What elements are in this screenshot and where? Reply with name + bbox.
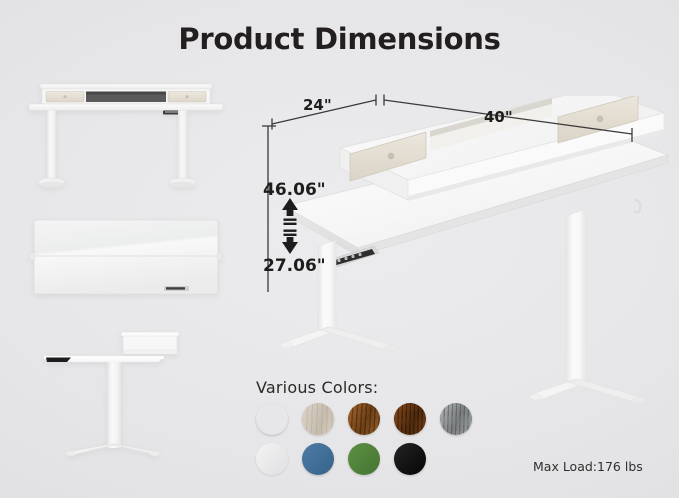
color-swatch-steel-blue[interactable] bbox=[302, 443, 334, 475]
max-height-dimension-label: 46.06" bbox=[263, 180, 326, 200]
height-range-arrows bbox=[282, 198, 298, 254]
color-swatch-row-1 bbox=[256, 403, 472, 435]
infographic-canvas: Product Dimensions bbox=[0, 0, 679, 498]
color-swatch-light-gray-oak[interactable] bbox=[302, 403, 334, 435]
color-swatch-weathered-gray[interactable] bbox=[440, 403, 472, 435]
max-load-label: Max Load:176 lbs bbox=[533, 459, 643, 474]
color-swatch-rustic-brown[interactable] bbox=[348, 403, 380, 435]
color-swatch-dark-walnut[interactable] bbox=[394, 403, 426, 435]
depth-dimension-label: 24" bbox=[303, 96, 332, 114]
color-swatch-olive-green[interactable] bbox=[348, 443, 380, 475]
color-swatch-light-oak[interactable] bbox=[256, 403, 288, 435]
color-swatch-black[interactable] bbox=[394, 443, 426, 475]
min-height-dimension-label: 27.06" bbox=[263, 256, 326, 276]
color-swatch-row-2 bbox=[256, 443, 426, 475]
various-colors-heading: Various Colors: bbox=[256, 378, 378, 397]
color-swatch-white[interactable] bbox=[256, 443, 288, 475]
width-dimension-label: 40" bbox=[484, 108, 513, 126]
